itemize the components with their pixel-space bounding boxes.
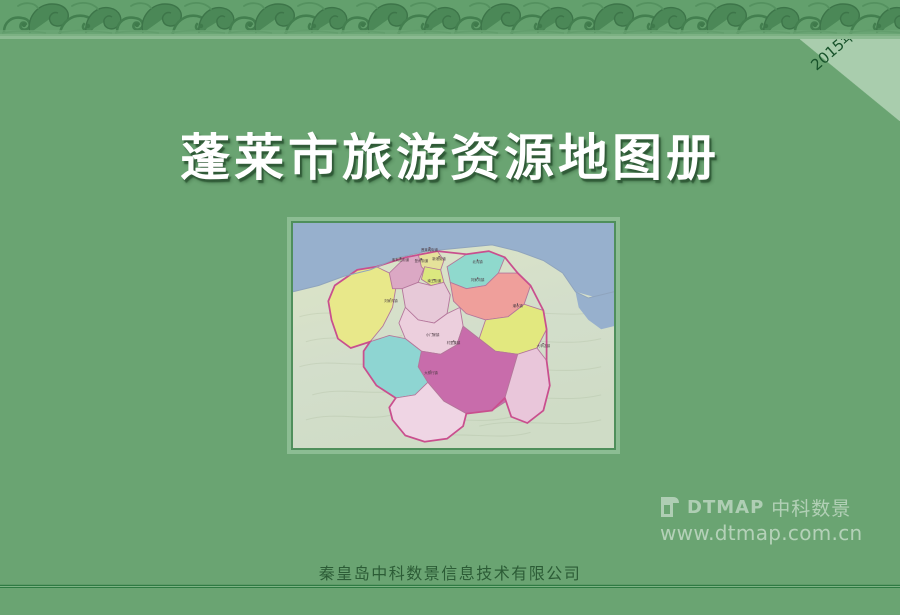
map-canvas: 刘家沟镇登州街道紫荆山街道新港街道蓬莱阁街道南王街道北沟镇刘家沟镇潮水镇村里集镇… bbox=[291, 221, 616, 450]
watermark-logo-text: DTMAP bbox=[687, 497, 764, 518]
district-name-text: 蓬莱阁街道 bbox=[421, 248, 438, 252]
district-name-text: 南王街道 bbox=[427, 280, 441, 284]
district-label: 大柳行镇 bbox=[424, 370, 438, 376]
district-name-text: 北沟镇 bbox=[472, 261, 482, 265]
district-name-text: 大辛店镇 bbox=[537, 344, 551, 348]
district-label: 小门家镇 bbox=[426, 333, 440, 339]
district-name-text: 刘家沟镇 bbox=[384, 299, 398, 303]
district-name-text: 紫荆山街道 bbox=[392, 258, 409, 262]
district-name-text: 新港街道 bbox=[432, 257, 446, 261]
district-label: 蓬莱阁街道 bbox=[421, 247, 438, 253]
arabesque-scroll-pattern-icon bbox=[0, 0, 900, 34]
district-name-text: 潮水镇 bbox=[513, 304, 523, 308]
district-label: 紫荆山街道 bbox=[392, 257, 409, 263]
district-name-text: 登州街道 bbox=[415, 259, 429, 263]
watermark-url: www.dtmap.com.cn bbox=[660, 521, 890, 545]
district-label: 北沟镇 bbox=[472, 260, 482, 266]
map-plate: 刘家沟镇登州街道紫荆山街道新港街道蓬莱阁街道南王街道北沟镇刘家沟镇潮水镇村里集镇… bbox=[287, 217, 620, 454]
page-title: 蓬莱市旅游资源地图册 bbox=[0, 118, 900, 190]
date-ribbon: 2015年9月 bbox=[800, 39, 900, 121]
district-label: 刘家沟镇 bbox=[471, 278, 485, 284]
district-label-layer: 刘家沟镇登州街道紫荆山街道新港街道蓬莱阁街道南王街道北沟镇刘家沟镇潮水镇村里集镇… bbox=[293, 223, 614, 448]
district-label: 村里集镇 bbox=[447, 341, 461, 347]
district-label: 潮水镇 bbox=[513, 303, 523, 309]
footer-company-name: 秦皇岛中科数景信息技术有限公司 bbox=[0, 560, 900, 584]
district-name-text: 刘家沟镇 bbox=[471, 279, 485, 283]
district-label: 刘家沟镇 bbox=[384, 298, 398, 304]
district-name-text: 大柳行镇 bbox=[424, 371, 438, 375]
footer-rule bbox=[0, 584, 900, 590]
watermark-brand-cn: 中科数景 bbox=[771, 494, 851, 521]
watermark-brand-row: DTMAP 中科数景 bbox=[660, 494, 890, 520]
district-name-text: 小门家镇 bbox=[426, 334, 440, 338]
district-label: 登州街道 bbox=[415, 258, 429, 264]
ornament-band bbox=[0, 0, 900, 34]
watermark: DTMAP 中科数景 www.dtmap.com.cn bbox=[660, 494, 890, 546]
district-label: 新港街道 bbox=[432, 256, 446, 262]
ornament-underline bbox=[0, 34, 900, 39]
district-name-text: 村里集镇 bbox=[447, 342, 461, 346]
dtmap-logo-icon bbox=[660, 496, 680, 518]
district-label: 南王街道 bbox=[427, 279, 441, 285]
district-label: 大辛店镇 bbox=[537, 343, 551, 349]
